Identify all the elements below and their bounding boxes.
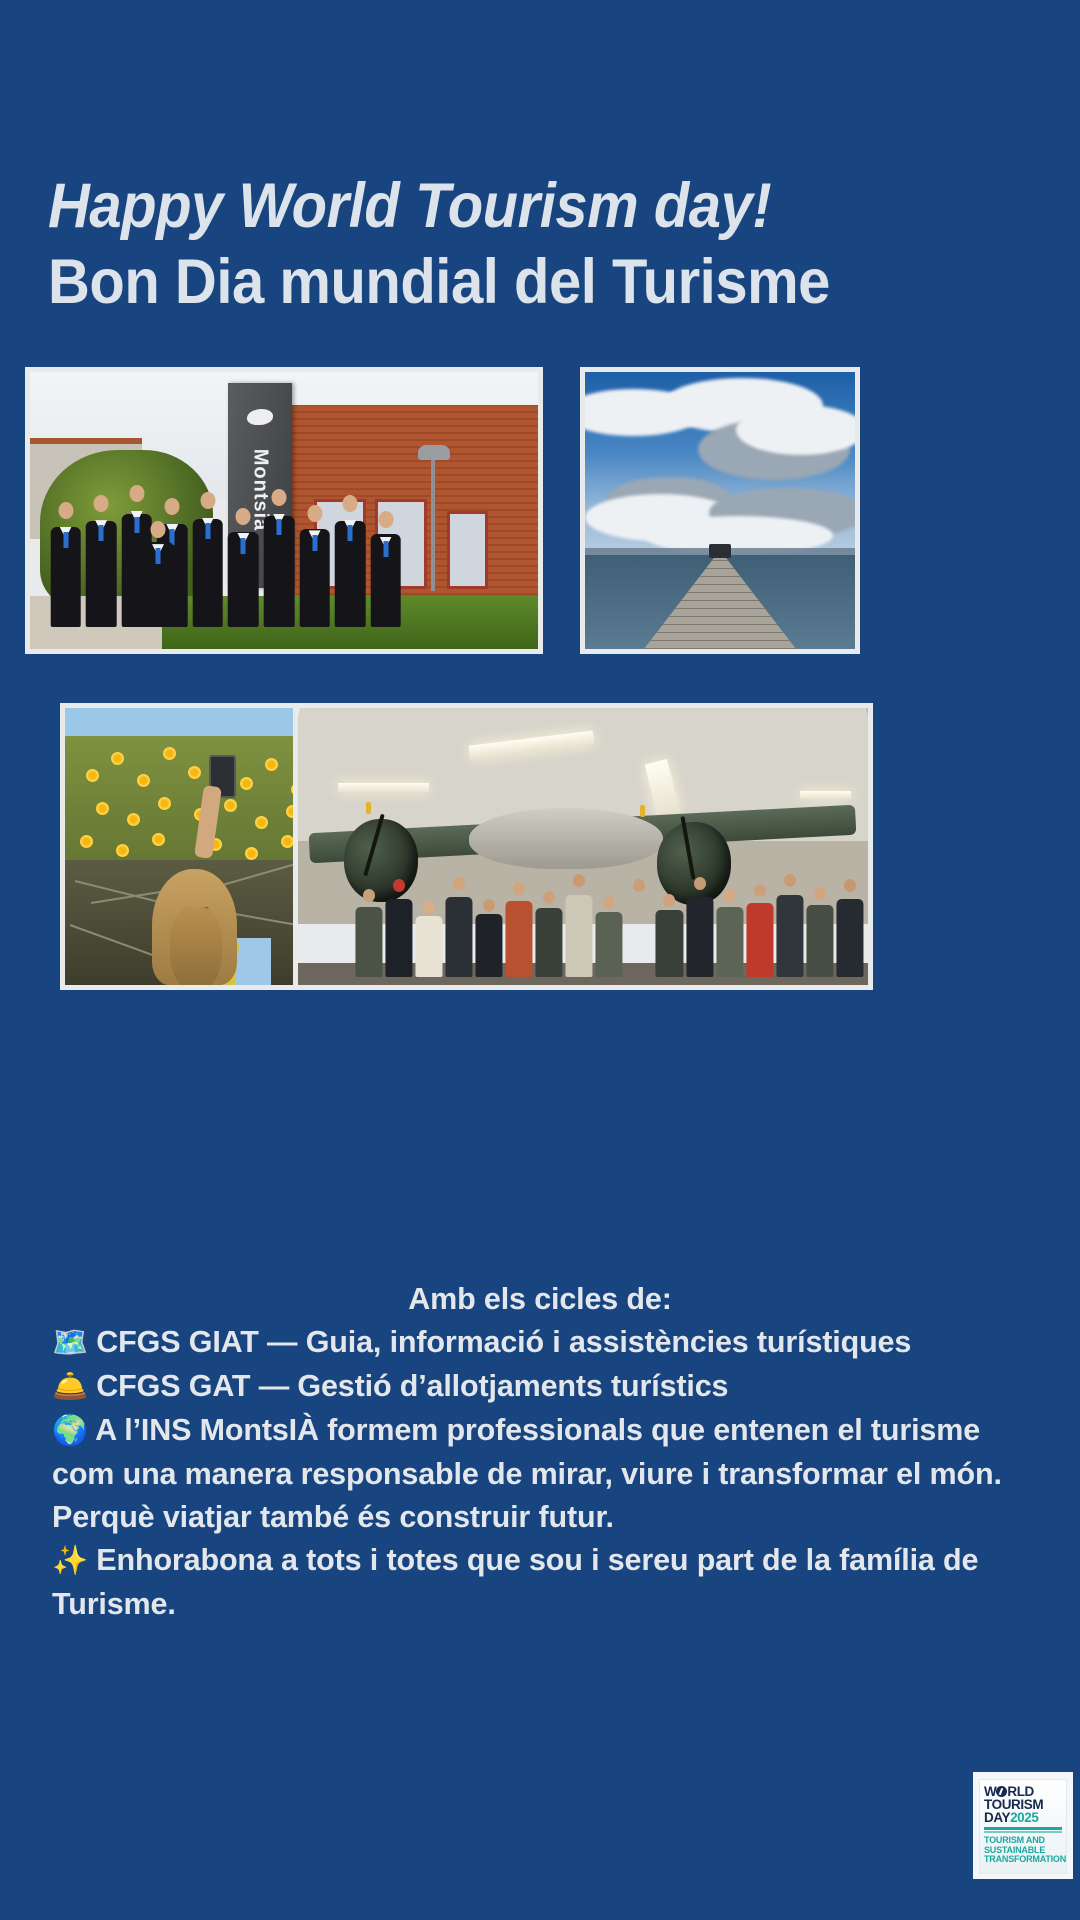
street-lamp: [431, 458, 435, 591]
copy-line-congrats-text: Enhorabona a tots i totes que sou i sere…: [52, 1543, 978, 1621]
copy-line-mission: 🌍 A l’INS MontsIÀ formem professionals q…: [52, 1409, 1028, 1539]
sign-logo-icon: [247, 409, 273, 425]
logo-year: 2025: [1010, 1810, 1038, 1825]
globe-europe-africa-emoji: 🌍: [52, 1415, 88, 1447]
copy-line-congrats: ✨ Enhorabona a tots i totes que sou i se…: [52, 1539, 1028, 1626]
logo-day: DAY: [984, 1810, 1010, 1825]
ceiling-light: [800, 791, 851, 799]
propeller-tip: [640, 805, 645, 817]
propeller-tip: [366, 802, 371, 814]
photo-pier-clouds: [580, 367, 860, 654]
logo-divider: [984, 1831, 1062, 1833]
page-title: Happy World Tourism day! Bon Dia mundial…: [48, 168, 1008, 320]
copy-line-mission-text: A l’INS MontsIÀ formem professionals que…: [52, 1413, 1002, 1534]
world-map-emoji: 🗺️: [52, 1327, 88, 1359]
body-copy: Amb els cicles de: 🗺️ CFGS GIAT — Guia, …: [52, 1278, 1028, 1626]
copy-line-gat: 🛎️ CFGS GAT — Gestió d’allotjaments turí…: [52, 1365, 1028, 1409]
headline-line-1: Happy World Tourism day!: [48, 168, 931, 244]
photo-museum-group: [293, 703, 873, 990]
world-tourism-day-logo: WRLD TOURISM DAY2025 TOURISM AND SUSTAIN…: [973, 1772, 1073, 1879]
ceiling-light: [338, 783, 429, 793]
bellhop-bell-emoji: 🛎️: [52, 1371, 88, 1403]
logo-line-day-year: DAY2025: [984, 1811, 1062, 1824]
cloud: [736, 405, 855, 455]
photo-flowers-girl: [60, 703, 327, 990]
copy-line-gat-text: CFGS GAT — Gestió d’allotjaments turísti…: [96, 1369, 728, 1403]
sparkles-emoji: ✨: [52, 1545, 88, 1577]
ponytail: [170, 907, 221, 985]
logo-divider: [984, 1827, 1062, 1830]
copy-line-giat-text: CFGS GIAT — Guia, informació i assistènc…: [96, 1325, 911, 1359]
people-on-pier: [709, 544, 731, 558]
visitor-group: [355, 855, 857, 977]
photo-students-school: Montsià: [25, 367, 543, 654]
copy-line-giat: 🗺️ CFGS GIAT — Guia, informació i assist…: [52, 1321, 1028, 1365]
headline-line-2: Bon Dia mundial del Turisme: [48, 244, 931, 320]
logo-subtitle-3: TRANSFORMATION: [984, 1855, 1062, 1865]
window: [447, 511, 489, 589]
copy-lead: Amb els cicles de:: [52, 1278, 1028, 1321]
student-group: [50, 466, 406, 627]
compass-icon: [996, 1786, 1007, 1797]
